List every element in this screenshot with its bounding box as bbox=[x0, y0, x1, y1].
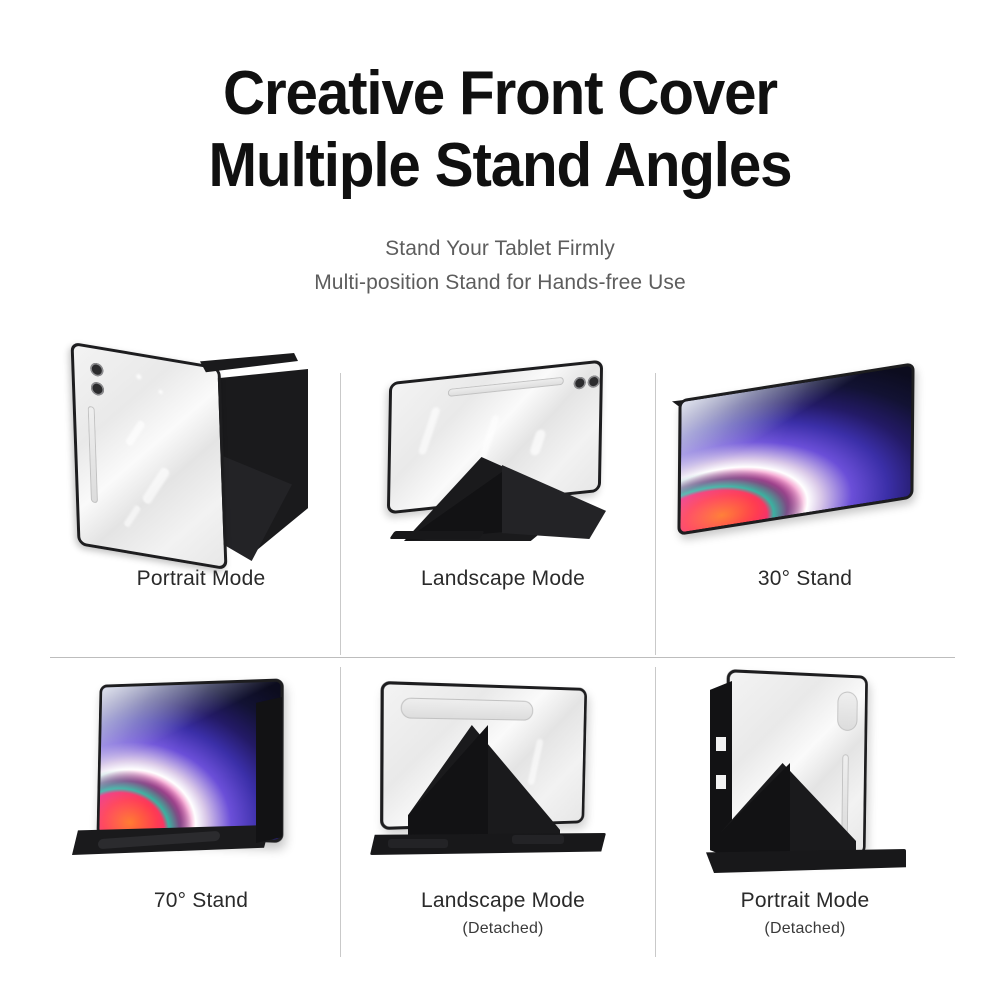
cell-caption: Landscape Mode bbox=[352, 567, 654, 591]
shell-landscape-detached-stand-icon bbox=[352, 667, 654, 885]
headline-line-1: Creative Front Cover bbox=[30, 58, 970, 130]
caption-subtext: (Detached) bbox=[654, 920, 956, 938]
grid-divider-horizontal bbox=[50, 657, 955, 658]
caption-text: Portrait Mode bbox=[741, 889, 870, 912]
tablet-screen-low-angle-icon bbox=[654, 345, 956, 563]
tablet-landscape-origami-stand-icon bbox=[352, 345, 654, 563]
caption-text: Portrait Mode bbox=[137, 567, 266, 590]
grid-cell-70-degree-stand: 70° Stand bbox=[50, 667, 352, 957]
subtitle-line-1: Stand Your Tablet Firmly bbox=[0, 232, 1000, 266]
caption-subtext: (Detached) bbox=[352, 920, 654, 938]
grid-cell-portrait-mode: Portrait Mode bbox=[50, 345, 352, 635]
cell-caption: 30° Stand bbox=[654, 567, 956, 591]
cell-caption: Portrait Mode (Detached) bbox=[654, 889, 956, 938]
subtitle-block: Stand Your Tablet Firmly Multi-position … bbox=[0, 232, 1000, 300]
tablet-portrait-origami-stand-icon bbox=[50, 345, 352, 563]
grid-cell-landscape-mode: Landscape Mode bbox=[352, 345, 654, 635]
caption-text: 70° Stand bbox=[154, 889, 248, 912]
header: Creative Front Cover Multiple Stand Angl… bbox=[0, 0, 1000, 300]
product-feature-page: Creative Front Cover Multiple Stand Angl… bbox=[0, 0, 1000, 1000]
caption-text: Landscape Mode bbox=[421, 889, 585, 912]
caption-text: 30° Stand bbox=[758, 567, 852, 590]
cell-caption: 70° Stand bbox=[50, 889, 352, 913]
grid-cell-portrait-detached: Portrait Mode (Detached) bbox=[654, 667, 956, 957]
subtitle-line-2: Multi-position Stand for Hands-free Use bbox=[0, 266, 1000, 300]
grid-cell-30-degree-stand: 30° Stand bbox=[654, 345, 956, 635]
feature-grid: Portrait Mode Lands bbox=[50, 345, 955, 965]
shell-portrait-detached-stand-icon bbox=[654, 667, 956, 885]
cell-caption: Landscape Mode (Detached) bbox=[352, 889, 654, 938]
grid-cell-landscape-detached: Landscape Mode (Detached) bbox=[352, 667, 654, 957]
headline-line-2: Multiple Stand Angles bbox=[30, 130, 970, 202]
tablet-screen-high-angle-icon bbox=[50, 667, 352, 885]
caption-text: Landscape Mode bbox=[421, 567, 585, 590]
cell-caption: Portrait Mode bbox=[50, 567, 352, 591]
